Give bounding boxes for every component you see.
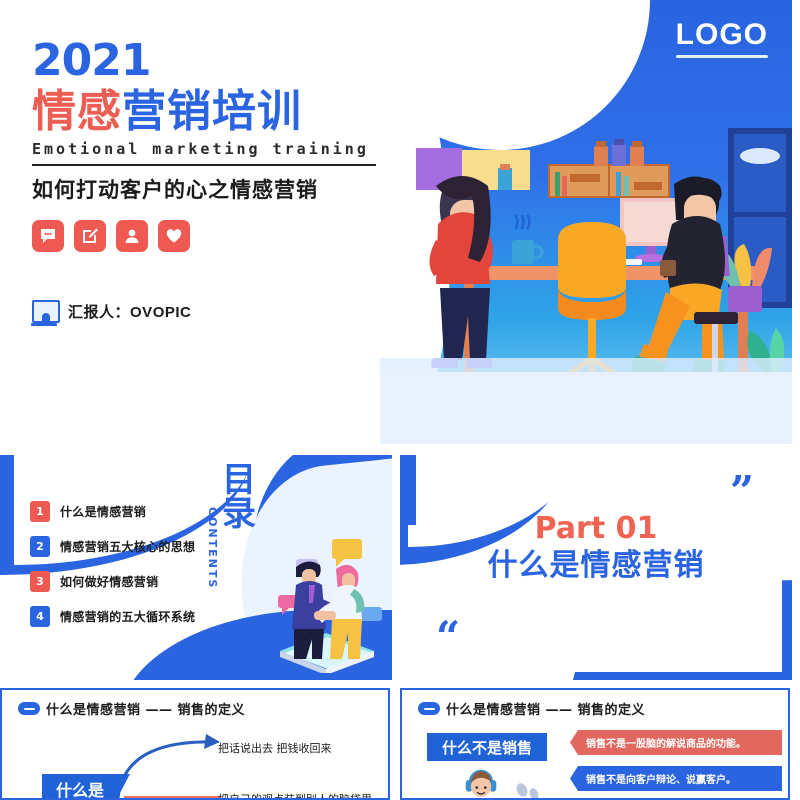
slide-deck-preview: LOGO 2021 情感营销培训 Emotional marketing tra… <box>0 0 800 800</box>
tag-red-bar <box>124 796 220 800</box>
presenter-label: 汇报人： <box>68 304 130 321</box>
section-title-right: 什么是情感营销 —— 销售的定义 <box>446 699 645 718</box>
toc-label-3: 如何做好情感营销 <box>60 573 158 590</box>
slide-sales-definition-right[interactable]: 什么是情感营销 —— 销售的定义 什么不是销售 销售不是一股脑的解说商品的功能。… <box>400 688 790 800</box>
part-text-block: Part 01 什么是情感营销 <box>400 513 792 585</box>
part-title: 什么是情感营销 <box>400 547 792 585</box>
boy-headphones-illustration <box>464 768 498 800</box>
presenter-block: 汇报人：OVOPIC <box>32 300 382 323</box>
toc-heading-char-2: 录 <box>222 497 256 531</box>
toc-badge-1: 1 <box>30 501 50 522</box>
toc-item-4[interactable]: 4 情感营销的五大循环系统 <box>30 606 195 627</box>
cover-text-block: 2021 情感营销培训 Emotional marketing training… <box>32 38 382 323</box>
toc-label-4: 情感营销的五大循环系统 <box>60 608 195 625</box>
speech-dots-icon <box>514 782 544 800</box>
toc-item-1[interactable]: 1 什么是情感营销 <box>30 501 195 522</box>
toc-heading-char-1: 目 <box>222 463 256 497</box>
section-bullet-icon <box>418 702 440 715</box>
toc-label-1: 什么是情感营销 <box>60 503 146 520</box>
quote-close-icon: ” <box>730 477 754 507</box>
comment-icon[interactable] <box>32 220 64 252</box>
section-bullet-icon <box>18 702 40 715</box>
presenter-text: 汇报人：OVOPIC <box>68 301 191 322</box>
logo-underline <box>676 55 768 58</box>
content-left-line-2: 把自己的观点装到别人的脑袋里 <box>218 791 372 800</box>
toc-list: 1 什么是情感营销 2 情感营销五大核心的思想 3 如何做好情感营销 4 情感营… <box>30 501 195 641</box>
presenter-badge-icon <box>32 300 60 323</box>
toc-label-2: 情感营销五大核心的思想 <box>60 538 195 555</box>
toc-heading: 目 录 <box>222 463 256 531</box>
section-header-left: 什么是情感营销 —— 销售的定义 <box>18 699 245 718</box>
section-header-right: 什么是情感营销 —— 销售的定义 <box>418 699 645 718</box>
logo-text: LOGO <box>676 18 768 52</box>
toc-badge-4: 4 <box>30 606 50 627</box>
cover-icon-row <box>32 220 382 252</box>
handshake-illustration <box>262 533 387 673</box>
presenter-name: OVOPIC <box>130 304 191 321</box>
cover-floor <box>380 372 792 444</box>
user-icon[interactable] <box>116 220 148 252</box>
cover-main-title: 情感营销培训 <box>32 86 382 138</box>
toc-heading-en: CONTENTS <box>206 507 219 589</box>
toc-badge-3: 3 <box>30 571 50 592</box>
content-left-line-1: 把话说出去 把钱收回来 <box>218 740 332 756</box>
slide-cover[interactable]: LOGO 2021 情感营销培训 Emotional marketing tra… <box>0 0 792 444</box>
cover-year: 2021 <box>32 38 382 84</box>
tag-what-is-not-sales: 什么不是销售 <box>427 733 547 761</box>
toc-badge-2: 2 <box>30 536 50 557</box>
tag-what-is: 什么是 <box>42 774 130 800</box>
toc-item-3[interactable]: 3 如何做好情感营销 <box>30 571 195 592</box>
slide-contents[interactable]: 目 录 CONTENTS <box>0 455 392 680</box>
curved-arrow-icon <box>110 726 230 800</box>
heart-icon[interactable] <box>158 220 190 252</box>
edit-icon[interactable] <box>74 220 106 252</box>
part-number-label: Part 01 <box>400 513 792 545</box>
section-title-left: 什么是情感营销 —— 销售的定义 <box>46 699 245 718</box>
slide-sales-definition-left[interactable]: 什么是情感营销 —— 销售的定义 什么是 把话说出去 把钱收回来 把自己的观点装… <box>0 688 390 800</box>
cover-subtitle-en: Emotional marketing training <box>32 140 382 158</box>
toc-heading-cn: 目 录 <box>222 463 256 531</box>
slide-part-01[interactable]: ” “ Part 01 什么是情感营销 <box>400 455 792 680</box>
toc-item-2[interactable]: 2 情感营销五大核心的思想 <box>30 536 195 557</box>
cover-title-part-red: 情感 <box>32 86 122 137</box>
cover-subtitle-cn: 如何打动客户的心之情感营销 <box>32 174 382 204</box>
quote-open-icon: “ <box>436 622 460 652</box>
cover-title-part-blue: 营销培训 <box>122 86 302 137</box>
cover-divider <box>32 164 376 166</box>
logo-block[interactable]: LOGO <box>676 18 768 58</box>
ribbon-2: 销售不是向客户辩论、说赢客户。 <box>570 766 782 791</box>
ribbon-1: 销售不是一股脑的解说商品的功能。 <box>570 730 782 755</box>
